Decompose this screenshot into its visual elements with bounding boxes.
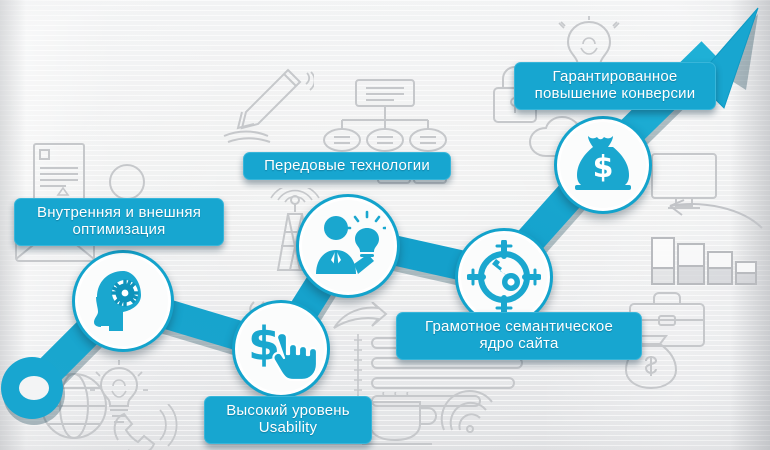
step-label-2[interactable]: Высокий уровень Usability [204, 396, 372, 444]
step-label-3[interactable]: Передовые технологии [243, 152, 451, 180]
step-node-2[interactable]: $ [232, 300, 330, 398]
businessman-lightbulb-icon [310, 208, 386, 284]
step-label-1[interactable]: Внутренняя и внешняя оптимизация [14, 198, 224, 246]
infographic-canvas: $ [0, 0, 770, 450]
svg-text:$: $ [593, 150, 614, 185]
step-label-5[interactable]: Гарантированное повышение конверсии [514, 62, 716, 110]
step-label-4[interactable]: Грамотное семантическое ядро сайта [396, 312, 642, 360]
step-node-3[interactable] [296, 194, 400, 298]
money-bag-icon: $ [567, 129, 639, 201]
step-node-5[interactable]: $ [554, 116, 652, 214]
arrow-tail-hole [19, 376, 49, 400]
dollar-hand-click-icon: $ [246, 314, 316, 384]
step-node-1[interactable] [72, 250, 174, 352]
target-key-icon [467, 240, 541, 314]
head-gear-icon [87, 265, 159, 337]
